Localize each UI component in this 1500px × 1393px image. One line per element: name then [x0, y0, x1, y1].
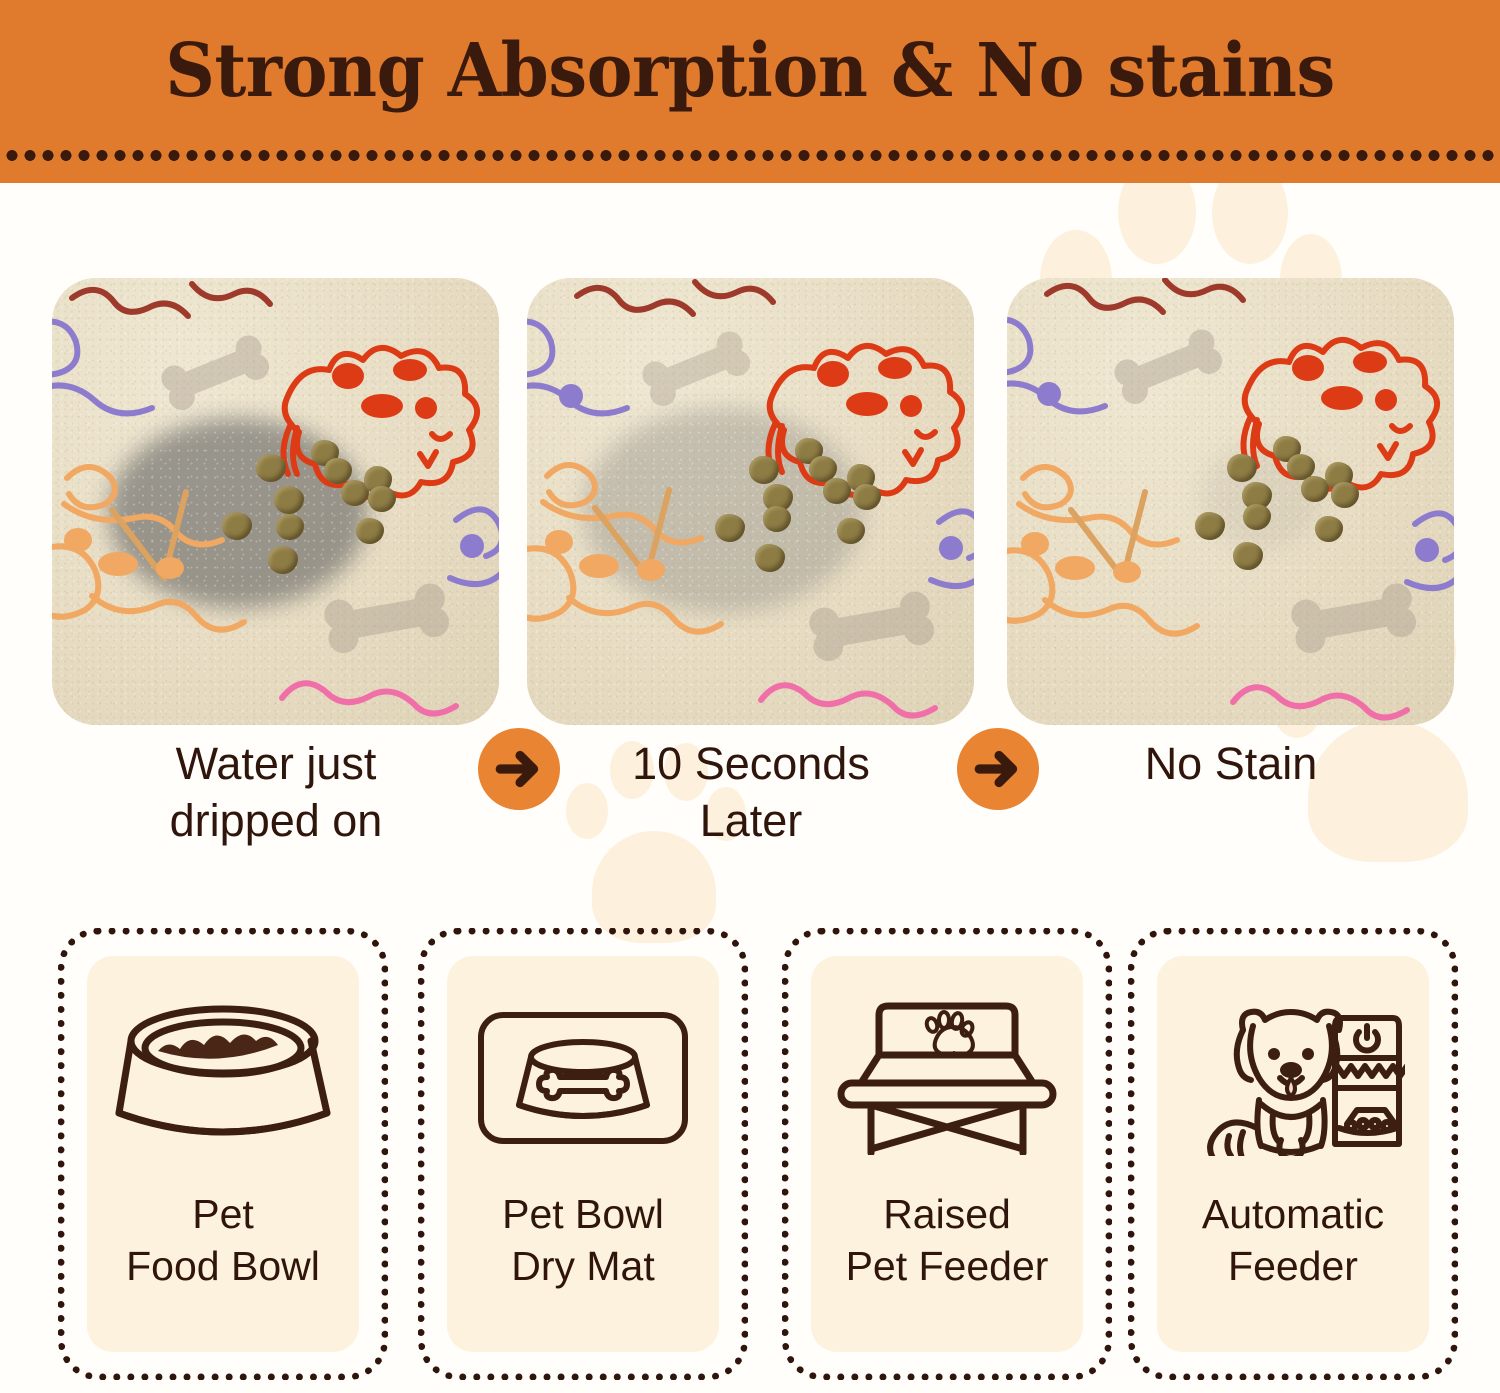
use-case-card-pet-bowl-dry-mat[interactable]: Pet Bowl Dry Mat — [418, 928, 748, 1380]
raised-pet-feeder-icon — [837, 990, 1057, 1162]
header-banner: Strong Absorption & No stains — [0, 0, 1500, 183]
feeder-machine-icon — [1335, 1018, 1405, 1144]
card-label: Pet Food Bowl — [126, 1188, 320, 1293]
card-label: Raised Pet Feeder — [846, 1188, 1049, 1293]
use-case-cards: Pet Food Bowl Pet Bowl Dry — [0, 928, 1500, 1383]
pet-food-bowl-icon — [115, 990, 331, 1162]
use-case-card-raised-pet-feeder[interactable]: Raised Pet Feeder — [782, 928, 1112, 1380]
card-label: Automatic Feeder — [1202, 1188, 1384, 1293]
demo-photo-step-2 — [527, 278, 974, 725]
demo-photo-step-1 — [52, 278, 499, 725]
infographic-page: Strong Absorption & No stains — [0, 0, 1500, 1393]
automatic-feeder-icon — [1181, 990, 1405, 1162]
use-case-card-pet-food-bowl[interactable]: Pet Food Bowl — [58, 928, 388, 1380]
mat-dog-pattern — [1007, 278, 1454, 725]
absorption-demo-row — [0, 270, 1500, 730]
demo-photo-step-3 — [1007, 278, 1454, 725]
demo-caption-step-2: 10 Seconds Later — [531, 736, 971, 849]
demo-captions: Water just dripped on 10 Seconds Later N… — [0, 736, 1500, 886]
demo-caption-step-1: Water just dripped on — [56, 736, 496, 849]
card-label: Pet Bowl Dry Mat — [502, 1188, 664, 1293]
page-title: Strong Absorption & No stains — [53, 28, 1448, 114]
demo-caption-step-3: No Stain — [1011, 736, 1451, 793]
header-dotted-divider — [0, 149, 1500, 161]
sitting-dog-icon — [1210, 1012, 1340, 1156]
mat-dog-pattern — [527, 278, 974, 725]
use-case-card-automatic-feeder[interactable]: Automatic Feeder — [1128, 928, 1458, 1380]
pet-bowl-dry-mat-icon — [475, 990, 691, 1162]
